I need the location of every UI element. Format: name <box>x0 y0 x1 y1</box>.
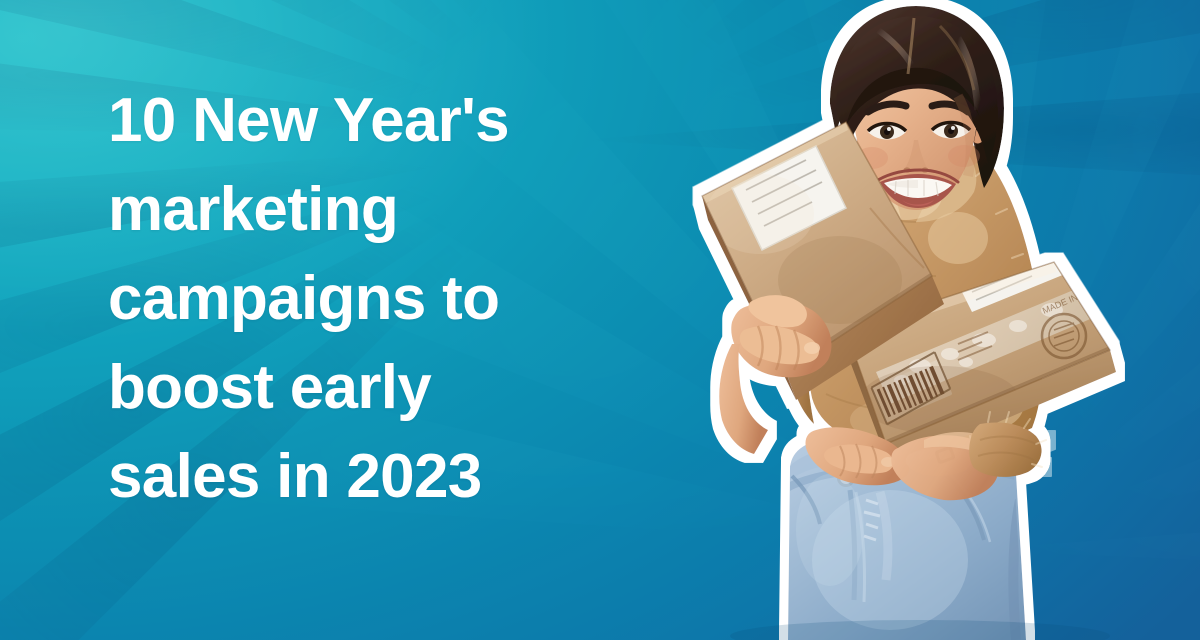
hero-photo-woman-with-parcels: MADE IN USA <box>640 0 1200 640</box>
contact-shadow <box>730 620 1110 640</box>
cutout-silhouette: MADE IN USA <box>702 6 1116 640</box>
jacket-cuff <box>969 423 1041 477</box>
page-title: 10 New Year's marketing campaigns to boo… <box>108 76 668 521</box>
blog-header-banner: 10 New Year's marketing campaigns to boo… <box>0 0 1200 640</box>
